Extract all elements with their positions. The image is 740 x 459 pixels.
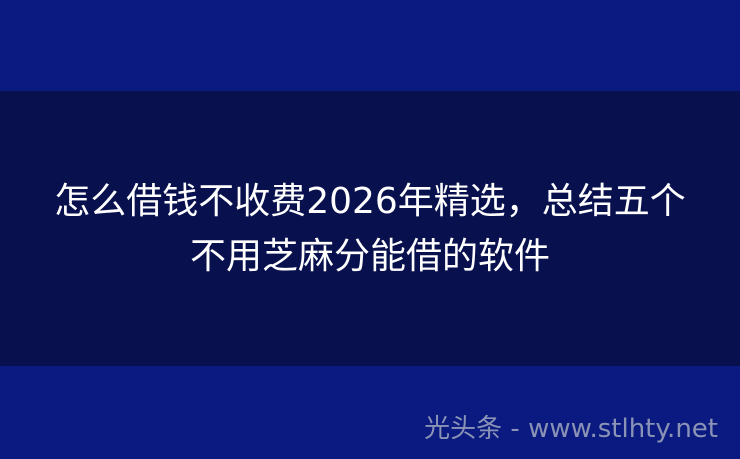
site-watermark: 光头条 - www.stlhty.net [424, 413, 718, 445]
page-title: 怎么借钱不收费2026年精选，总结五个不用芝麻分能借的软件 [44, 174, 696, 284]
headline-area: 怎么借钱不收费2026年精选，总结五个不用芝麻分能借的软件 [0, 91, 740, 366]
top-blue-band [0, 0, 740, 91]
article-cover-image: 怎么借钱不收费2026年精选，总结五个不用芝麻分能借的软件 光头条 - www.… [0, 0, 740, 459]
